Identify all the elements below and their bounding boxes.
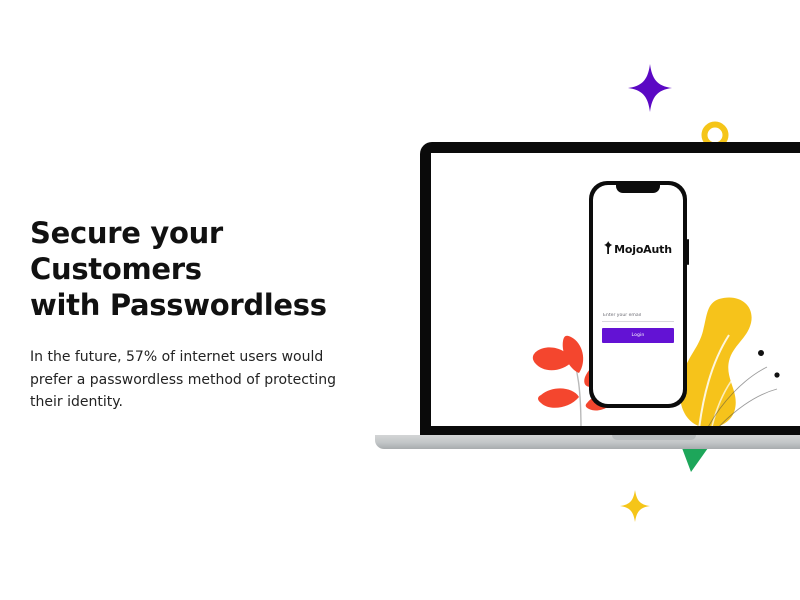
phone-mockup: MojoAuth Login — [589, 181, 687, 408]
laptop-base — [375, 435, 800, 449]
laptop-lid: MojoAuth Login — [420, 142, 800, 438]
brand-name: MojoAuth — [614, 243, 672, 256]
laptop-base-notch — [612, 435, 696, 440]
login-form: Login — [602, 303, 674, 343]
hero-subcopy: In the future, 57% of internet users wou… — [30, 324, 350, 414]
hero-copy-block: Secure your Customers with Passwordless … — [30, 216, 380, 414]
phone-screen: MojoAuth Login — [593, 185, 683, 404]
triangle-green-icon — [682, 448, 708, 472]
phone-notch — [616, 185, 660, 193]
mojoauth-mark-icon — [604, 241, 613, 254]
screen-illustration: MojoAuth Login — [431, 153, 800, 426]
hero-illustration-page: Secure your Customers with Passwordless … — [0, 0, 800, 600]
laptop-screen: MojoAuth Login — [431, 153, 800, 426]
brand-logo: MojoAuth — [593, 241, 683, 257]
login-button[interactable]: Login — [602, 328, 674, 343]
email-field[interactable] — [602, 313, 674, 322]
blob-yellow-icon — [677, 291, 787, 426]
page-title: Secure your Customers with Passwordless — [30, 216, 380, 324]
sparkle-purple-icon — [628, 64, 672, 112]
phone-power-button[interactable] — [687, 239, 689, 265]
laptop-mockup: MojoAuth Login — [420, 142, 800, 438]
sparkle-yellow-icon — [620, 490, 650, 522]
